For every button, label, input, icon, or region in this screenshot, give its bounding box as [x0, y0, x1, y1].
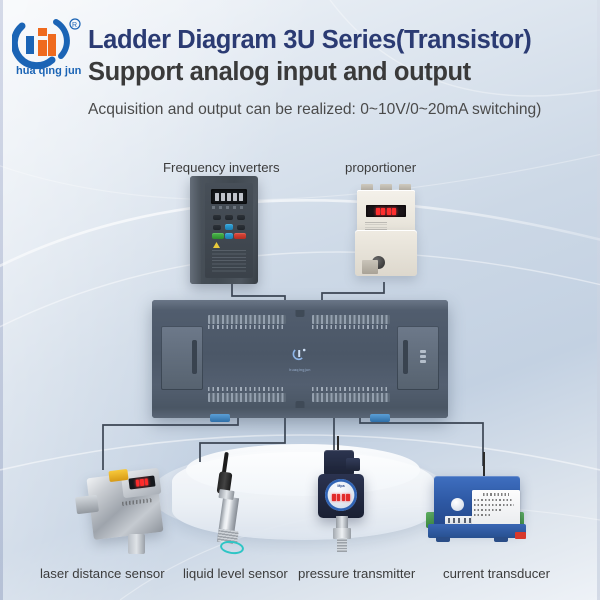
- caption-liquid-level-sensor: liquid level sensor: [183, 566, 288, 581]
- vfd-key-up[interactable]: [225, 224, 234, 230]
- laser-distance-sensor[interactable]: [76, 468, 174, 554]
- vfd-key-1[interactable]: [213, 214, 222, 220]
- vfd-vent-grille: [212, 250, 246, 272]
- vfd-stop-button[interactable]: [234, 233, 246, 239]
- page-subtitle: Support analog input and output: [88, 58, 593, 87]
- proportioner-display: [366, 205, 406, 217]
- vfd-indicator-row: [212, 206, 246, 209]
- vfd-run-button[interactable]: [212, 233, 224, 239]
- pressure-transmitter-housing: Mpa: [318, 474, 364, 518]
- vfd-faceplate: [205, 183, 253, 278]
- plc-input-label-right: [312, 325, 390, 329]
- pressure-transmitter-dial-face: Mpa: [325, 479, 357, 511]
- current-transducer-body: [434, 476, 520, 528]
- current-transducer-din-release[interactable]: [515, 532, 526, 539]
- plc-bottom-lip: [152, 408, 448, 418]
- huaqingjun-logo: R hua qing jun: [12, 12, 86, 78]
- vfd-key-2[interactable]: [225, 214, 234, 220]
- liquid-sensor-hex-nut: [218, 489, 234, 500]
- product-poster: R hua qing jun Ladder Diagram 3U Series(…: [0, 0, 600, 600]
- vfd-key-5[interactable]: [237, 224, 246, 230]
- plc-left-cover[interactable]: [161, 326, 203, 390]
- page-title: Ladder Diagram 3U Series(Transistor): [88, 26, 593, 55]
- vfd-keypad[interactable]: [211, 214, 247, 243]
- proportioner-upper-housing: [357, 190, 415, 232]
- vfd-key-3[interactable]: [237, 214, 246, 220]
- frequency-inverter[interactable]: [190, 176, 258, 284]
- plc-din-clip-right[interactable]: [370, 414, 390, 422]
- plc-output-terminal-left[interactable]: [208, 393, 286, 402]
- proportioner[interactable]: [355, 182, 417, 282]
- pressure-transmitter-connector-side: [346, 458, 360, 471]
- plc-output-terminal-right[interactable]: [312, 393, 390, 402]
- caption-pressure-transmitter: pressure transmitter: [298, 566, 415, 581]
- plc-input-label-left: [208, 325, 286, 329]
- vfd-key-4[interactable]: [213, 224, 222, 230]
- current-transducer-foot-right: [494, 537, 508, 542]
- plc-left-slot: [192, 340, 197, 374]
- current-transducer-foot-left: [436, 537, 450, 542]
- caption-current-transducer: current transducer: [443, 566, 550, 581]
- liquid-sensor-tip-ring: [219, 539, 245, 555]
- plc-status-leds: [420, 350, 426, 366]
- proportioner-spec-label: [365, 222, 387, 230]
- caption-frequency-inverter: Frequency inverters: [163, 160, 280, 175]
- laser-sensor-amber-cap: [108, 469, 128, 482]
- pressure-transmitter[interactable]: Mpa: [312, 450, 374, 556]
- plc-top-lip: [152, 300, 448, 310]
- page-description: Acquisition and output can be realized: …: [88, 100, 583, 121]
- svg-text:R: R: [72, 22, 77, 29]
- left-edge-accent: [0, 0, 3, 600]
- current-transducer-wire: [483, 452, 485, 478]
- proportioner-mount-foot: [362, 260, 378, 274]
- plc-input-terminal-left[interactable]: [208, 315, 286, 324]
- laser-sensor-mount-stem: [128, 534, 145, 554]
- plc-logo-text: huaqingjun: [289, 368, 311, 372]
- liquid-level-sensor[interactable]: [206, 452, 252, 556]
- plc-logo-icon: [292, 346, 308, 362]
- proportioner-lower-housing: [355, 230, 417, 276]
- pressure-unit-label: Mpa: [337, 484, 344, 488]
- vfd-warning-icon: [213, 242, 220, 248]
- laser-sensor-connector: [75, 495, 99, 515]
- plc-input-terminal-right[interactable]: [312, 315, 390, 324]
- plc-right-cover[interactable]: [397, 326, 439, 390]
- plc-din-clip-left[interactable]: [210, 414, 230, 422]
- pressure-transmitter-display: [332, 494, 350, 501]
- current-transducer-aperture: [451, 498, 464, 511]
- pressure-transmitter-thread: [337, 538, 347, 552]
- current-transducer[interactable]: [428, 468, 532, 550]
- caption-laser-distance-sensor: laser distance sensor: [40, 566, 165, 581]
- current-transducer-base: [428, 524, 526, 538]
- plc-output-label-left: [208, 387, 286, 391]
- vfd-heatsink: [190, 176, 201, 284]
- plc-right-slot: [403, 340, 408, 374]
- plc-bottom-notch: [296, 401, 305, 408]
- svg-text:hua qing jun: hua qing jun: [16, 65, 82, 77]
- caption-proportioner: proportioner: [345, 160, 416, 175]
- plc-output-label-right: [312, 387, 390, 391]
- plc-brand-mark: huaqingjun: [289, 346, 311, 372]
- current-transducer-spec-label: [472, 490, 520, 528]
- vfd-display: [211, 189, 247, 204]
- plc-controller[interactable]: huaqingjun: [152, 300, 448, 418]
- plc-top-notch: [296, 310, 305, 317]
- vfd-key-down[interactable]: [225, 233, 234, 239]
